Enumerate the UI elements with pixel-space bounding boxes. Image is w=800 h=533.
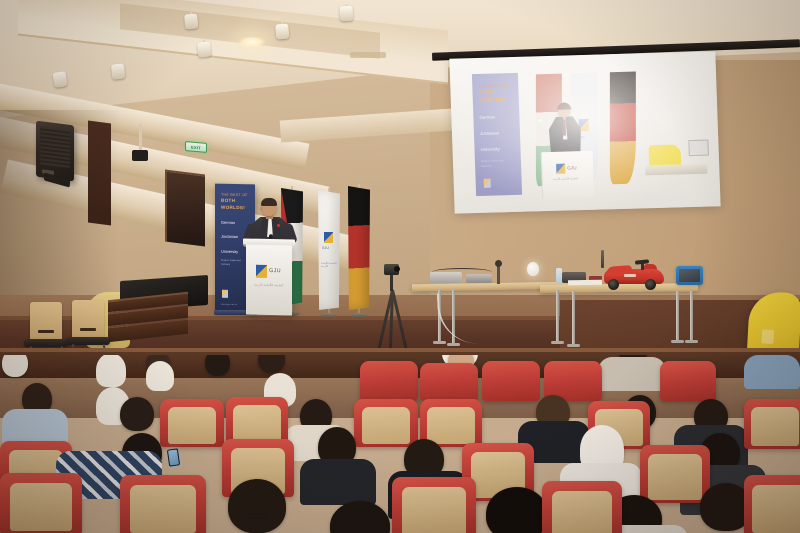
papers <box>568 280 602 286</box>
audience <box>0 355 800 533</box>
table-foot <box>551 341 564 344</box>
air-vent <box>350 52 386 58</box>
camera-mount-rod <box>139 124 142 152</box>
projected-lectern: GJU الجامعة الألمانية الأردنية <box>541 151 595 198</box>
projected-flag-germany <box>610 72 636 185</box>
exit-sign-label: EXIT <box>191 144 201 150</box>
table-leg <box>690 291 693 341</box>
track-spotlight-icon <box>197 41 212 64</box>
electronics-kit <box>466 274 492 283</box>
podium-top <box>243 238 295 245</box>
presenter-lapel-pin <box>277 224 280 227</box>
track-spotlight-icon <box>275 24 290 47</box>
bean-bag-tag <box>761 329 774 344</box>
track-spotlight-icon <box>339 6 353 29</box>
audience-head <box>228 479 286 533</box>
projected-banner-org2: Jordanian <box>480 129 514 138</box>
audience-head <box>486 487 548 533</box>
flag-base <box>321 313 337 318</box>
projected-banner-fineprint: Study in Jordan and Germany <box>481 159 515 169</box>
projected-table <box>645 164 707 176</box>
projected-presenter <box>547 103 583 158</box>
exit-sign: EXIT <box>185 141 207 153</box>
doorway <box>165 170 205 247</box>
podium: GJU الجامعة الألمانية الأردنية <box>246 243 292 316</box>
table-leg <box>676 291 679 341</box>
gju-logo-icon <box>256 265 267 278</box>
projected-banner-logo-icon <box>484 179 491 188</box>
auditorium-photograph: EXIT THE BEST OF BOTH WORLDS! German Jor… <box>0 0 800 533</box>
theatre-seat[interactable] <box>420 363 478 401</box>
audience-hijab <box>146 361 174 391</box>
projected-monitor <box>688 140 709 157</box>
recessed-downlight <box>238 36 266 48</box>
banner-logo-icon <box>222 290 228 298</box>
gju-flag-arabic: الجامعة الألمانية الأردنية <box>321 262 340 268</box>
theatre-seat[interactable] <box>482 361 540 401</box>
theatre-seat[interactable] <box>354 399 418 447</box>
projected-lectern-arabic: الجامعة الألمانية الأردنية <box>553 177 578 181</box>
smartphone[interactable] <box>167 448 180 466</box>
theatre-seat[interactable] <box>640 445 710 503</box>
audience-head <box>330 501 390 533</box>
flag-base <box>351 313 367 318</box>
track-spotlight-icon <box>184 13 199 36</box>
banner-line2: BOTH WORLDS! <box>221 198 250 212</box>
projected-presenter-hair <box>557 102 571 109</box>
banner-footer-url: www.gju.edu.jo <box>221 304 237 306</box>
table-foot <box>671 340 684 343</box>
theatre-seat[interactable] <box>160 399 224 447</box>
audience-hijab <box>96 355 126 387</box>
audience-torso <box>300 459 376 505</box>
tripod-column <box>390 275 393 291</box>
toy-car-wheel <box>608 279 619 290</box>
audience-head <box>258 355 285 373</box>
presenter-hair <box>261 198 277 206</box>
mic-stand <box>497 264 500 284</box>
projected-banner-line2: BOTH WORLDS! <box>478 89 513 106</box>
table-leg <box>556 290 559 342</box>
chair-back <box>30 302 62 340</box>
table-foot <box>685 340 698 343</box>
tablet-device <box>676 266 703 285</box>
water-bottle <box>556 268 562 283</box>
chair-slot <box>38 330 54 333</box>
eyeglasses <box>248 513 268 519</box>
podium-arabic-text: الجامعة الألمانية الأردنية <box>254 283 283 288</box>
table-foot <box>447 343 460 346</box>
phone-screen <box>168 449 179 465</box>
theatre-seat[interactable] <box>744 475 800 533</box>
theatre-seat[interactable] <box>226 397 288 445</box>
cable-loop <box>432 268 492 273</box>
theatre-seat[interactable] <box>744 399 800 449</box>
tablet-screen <box>679 269 700 282</box>
toy-car-wheel <box>645 279 656 290</box>
projected-presenter-tie <box>563 120 567 136</box>
projected-banner-org3: University <box>480 145 514 154</box>
theatre-seat[interactable] <box>360 361 418 401</box>
chair-back <box>72 300 104 338</box>
theatre-seat[interactable] <box>392 477 476 533</box>
theatre-seat[interactable] <box>542 481 622 533</box>
theatre-seat[interactable] <box>0 473 82 533</box>
projected-banner: THE BEST OF BOTH WORLDS! German Jordania… <box>472 73 522 196</box>
electronics-kit <box>430 272 462 283</box>
podium-logo-text: GJU <box>269 268 281 274</box>
gju-flag-logo-icon <box>324 232 333 243</box>
track-spotlight-icon <box>111 63 126 86</box>
toy-car-stripe <box>624 274 636 277</box>
ceiling-camera <box>132 150 148 161</box>
audience-head <box>205 355 230 376</box>
projected-lectern-logo-text: GJU <box>567 165 577 170</box>
audience-torso <box>598 357 666 391</box>
banner-org1: German <box>221 218 250 226</box>
chair-slot <box>80 328 96 331</box>
table-foot <box>433 341 446 344</box>
table-leg <box>572 291 575 345</box>
theatre-seat[interactable] <box>660 361 716 401</box>
tripod-camera <box>372 264 410 356</box>
audience-torso <box>744 355 800 389</box>
table-foot <box>567 344 580 347</box>
projection-screen: THE BEST OF BOTH WORLDS! German Jordania… <box>449 51 720 213</box>
work-lamp <box>527 262 539 276</box>
audience-head <box>120 397 154 431</box>
projected-banner-org1: German <box>479 113 513 122</box>
flag-gju: GJU الجامعة الألمانية الأردنية <box>318 190 340 310</box>
red-toy-car <box>604 262 664 286</box>
flag-germany <box>348 186 370 310</box>
camera-icon <box>384 264 399 275</box>
presenter-ear <box>260 207 263 211</box>
theatre-seat[interactable] <box>120 475 206 533</box>
tripod-leg <box>391 290 409 357</box>
gju-flag-label: GJU <box>322 246 329 250</box>
projected-lectern-logo-icon <box>556 164 565 174</box>
audience-head <box>2 355 28 377</box>
